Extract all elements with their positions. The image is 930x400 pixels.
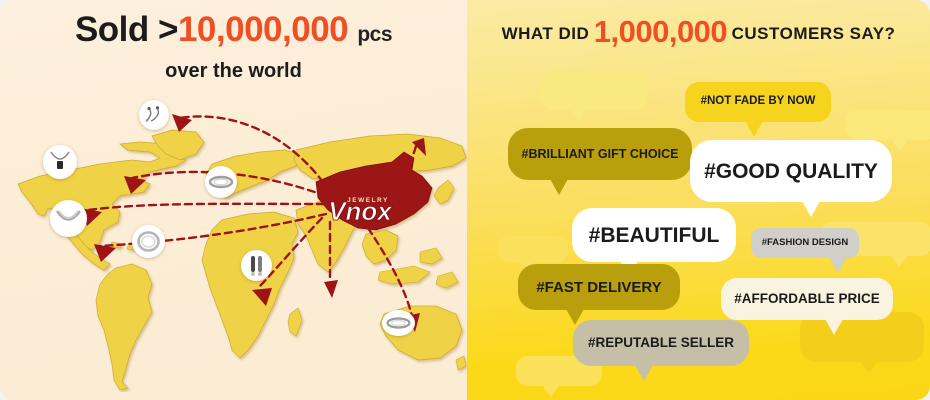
bangle-icon <box>135 228 162 255</box>
left-panel-world-map: Sold >10,000,000 pcs over the world <box>0 0 467 400</box>
background-bubble-ghost-top-right <box>845 110 930 140</box>
hashtag-bubble-reputable-seller[interactable]: #REPUTABLE SELLER <box>573 320 749 366</box>
headline-unit: pcs <box>357 23 392 46</box>
chain-necklace-icon <box>53 203 84 234</box>
page-title: Sold >10,000,000 pcs <box>0 10 467 50</box>
hashtag-bubble-good-quality[interactable]: #GOOD QUALITY <box>690 140 892 202</box>
earrings-icon <box>143 104 165 126</box>
hashtag-bubble-fashion-design[interactable]: #FASHION DESIGN <box>751 228 859 258</box>
bubble-tail <box>825 319 843 335</box>
badge-ring-band[interactable] <box>382 310 415 336</box>
bubble-tail <box>890 255 908 267</box>
background-bubble-ghost-mid-left <box>498 236 568 262</box>
hashtag-label: #BEAUTIFUL <box>589 225 720 246</box>
world-map-svg: Vnox JEWELRY <box>0 92 467 392</box>
svg-text:JEWELRY: JEWELRY <box>347 197 389 204</box>
hashtag-label: #REPUTABLE SELLER <box>588 336 734 350</box>
hashtag-label: #NOT FADE BY NOW <box>701 96 816 108</box>
badge-pendant-necklace[interactable] <box>43 145 77 179</box>
bubble-tail <box>635 365 653 381</box>
badge-bangle[interactable] <box>132 225 165 258</box>
hashtag-label: #AFFORDABLE PRICE <box>734 292 880 306</box>
bubble-tail <box>891 139 909 151</box>
hashtag-bubble-affordable-price[interactable]: #AFFORDABLE PRICE <box>721 278 893 320</box>
bubble-tail <box>829 257 847 273</box>
title-suffix: CUSTOMERS SAY? <box>732 24 896 43</box>
headline-prefix: Sold > <box>75 10 178 49</box>
headline-number: 10,000,000 <box>178 10 348 49</box>
bubble-tail <box>745 121 763 137</box>
bubble-tail <box>570 109 588 121</box>
pendant-necklace-icon <box>46 148 74 176</box>
hashtag-label: #GOOD QUALITY <box>704 161 878 182</box>
bubble-tail <box>802 201 820 217</box>
world-map: Vnox JEWELRY <box>0 92 467 392</box>
page-subtitle: over the world <box>0 60 467 83</box>
hashtag-label: #FAST DELIVERY <box>536 280 661 295</box>
title-number: 1,000,000 <box>594 14 727 49</box>
vnox-logo: Vnox JEWELRY <box>328 196 393 226</box>
ring-band-icon <box>385 313 412 333</box>
hashtag-bubble-brilliant-gift-choice[interactable]: #BRILLIANT GIFT CHOICE <box>508 128 692 180</box>
hashtag-bubble-fast-delivery[interactable]: #FAST DELIVERY <box>518 264 680 310</box>
background-bubble-ghost-top-left <box>540 72 648 110</box>
badge-bracelet[interactable] <box>205 166 237 198</box>
promo-banner: Sold >10,000,000 pcs over the world <box>0 0 930 400</box>
title-prefix: WHAT DID <box>502 24 590 43</box>
right-panel-customer-hashtags: WHAT DID 1,000,000 CUSTOMERS SAY? #NOT F… <box>467 0 930 400</box>
bracelet-icon <box>208 169 234 195</box>
hashtag-label: #FASHION DESIGN <box>762 238 849 248</box>
rings-pair-icon <box>244 253 269 278</box>
hashtag-bubble-beautiful[interactable]: #BEAUTIFUL <box>572 208 736 262</box>
bubble-tail <box>550 179 568 195</box>
hashtag-label: #BRILLIANT GIFT CHOICE <box>522 148 679 161</box>
hashtag-bubble-not-fade-by-now[interactable]: #NOT FADE BY NOW <box>685 82 831 122</box>
badge-chain-necklace[interactable] <box>50 200 87 237</box>
badge-earrings[interactable] <box>139 100 169 130</box>
bubble-tail <box>542 385 560 397</box>
customers-say-title: WHAT DID 1,000,000 CUSTOMERS SAY? <box>467 14 930 50</box>
badge-rings-pair[interactable] <box>241 250 272 281</box>
bubble-tail <box>860 361 878 373</box>
